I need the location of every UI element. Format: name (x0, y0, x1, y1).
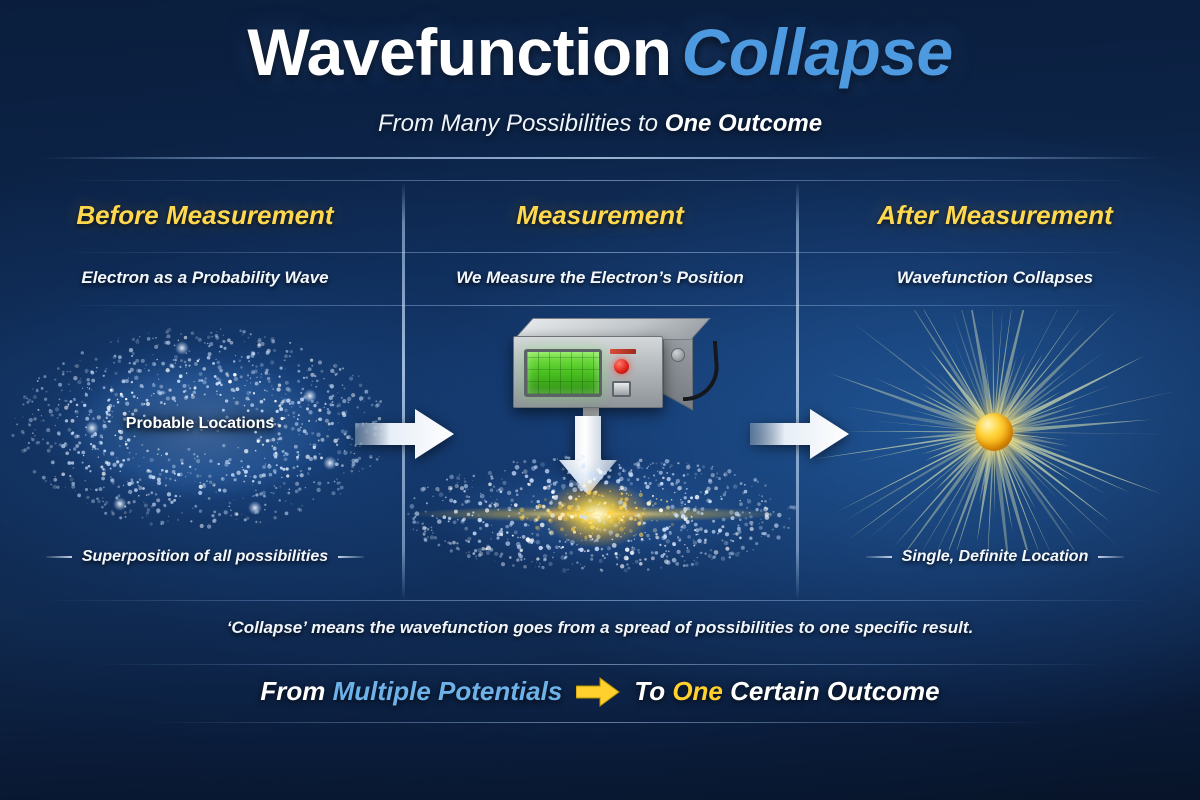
device-square-button[interactable] (612, 381, 631, 397)
infographic-canvas: WavefunctionCollapse From Many Possibili… (0, 0, 1200, 800)
particle-orb-icon (975, 413, 1013, 451)
device-front-panel (513, 336, 663, 408)
summary-from: From Multiple Potentials (260, 676, 562, 707)
title-main-text: Wavefunction (247, 15, 671, 89)
column-subtitle-after: Wavefunction Collapses (798, 268, 1192, 288)
caption-text-after: Single, Definite Location (902, 548, 1089, 566)
collapsed-point-visual (798, 310, 1192, 550)
column-after-measurement: After Measurement Wavefunction Collapses… (798, 180, 1192, 600)
caption-dash-right-icon (338, 556, 364, 558)
divider-under-columns (40, 600, 1160, 601)
device-led-strip-icon (610, 349, 636, 354)
measurement-device-icon (495, 314, 705, 424)
caption-dash-left-icon (46, 556, 72, 558)
column-title-after: After Measurement (798, 200, 1192, 231)
summary-to-highlight: One (672, 676, 723, 706)
column-measurement: Measurement We Measure the Electron’s Po… (403, 180, 797, 600)
divider-bottom (150, 722, 1050, 723)
page-subtitle: From Many Possibilities to One Outcome (0, 110, 1200, 138)
caption-dash-left-icon (866, 556, 892, 558)
flash-particles-icon (397, 448, 803, 578)
divider-under-title (40, 157, 1160, 159)
column-subtitle-before: Electron as a Probability Wave (8, 268, 402, 288)
right-arrow-icon (576, 677, 620, 707)
device-red-button[interactable] (614, 359, 629, 374)
flow-arrow-icon-2 (750, 408, 850, 460)
page-title: WavefunctionCollapse (0, 18, 1200, 87)
subtitle-strong: One Outcome (665, 110, 822, 137)
explanation-note: ‘Collapse’ means the wavefunction goes f… (0, 618, 1200, 638)
summary-to-prefix: To (634, 676, 672, 706)
subtitle-prefix: From Many Possibilities to (378, 110, 665, 137)
column-before-measurement: Before Measurement Electron as a Probabi… (8, 180, 402, 600)
summary-from-highlight: Multiple Potentials (333, 676, 563, 706)
summary-to-suffix: Certain Outcome (723, 676, 940, 706)
divider-under-note (90, 664, 1110, 665)
column-caption-before: Superposition of all possibilities (8, 548, 402, 566)
device-screen-icon (524, 349, 602, 397)
column-title-measurement: Measurement (403, 200, 797, 231)
title-accent-text: Collapse (682, 15, 953, 89)
caption-dash-right-icon (1098, 556, 1124, 558)
probable-locations-label: Probable Locations (0, 415, 400, 433)
caption-text-before: Superposition of all possibilities (82, 548, 328, 566)
probability-cloud-visual: Probable Locations (0, 308, 400, 548)
summary-from-prefix: From (260, 676, 332, 706)
device-cable-icon (679, 341, 721, 402)
column-title-before: Before Measurement (8, 200, 402, 231)
column-subtitle-measurement: We Measure the Electron’s Position (403, 268, 797, 288)
column-caption-after: Single, Definite Location (798, 548, 1192, 566)
summary-to: To One Certain Outcome (634, 676, 939, 707)
summary-line: From Multiple Potentials To One Certain … (0, 676, 1200, 707)
collapse-flash-visual (397, 448, 803, 578)
